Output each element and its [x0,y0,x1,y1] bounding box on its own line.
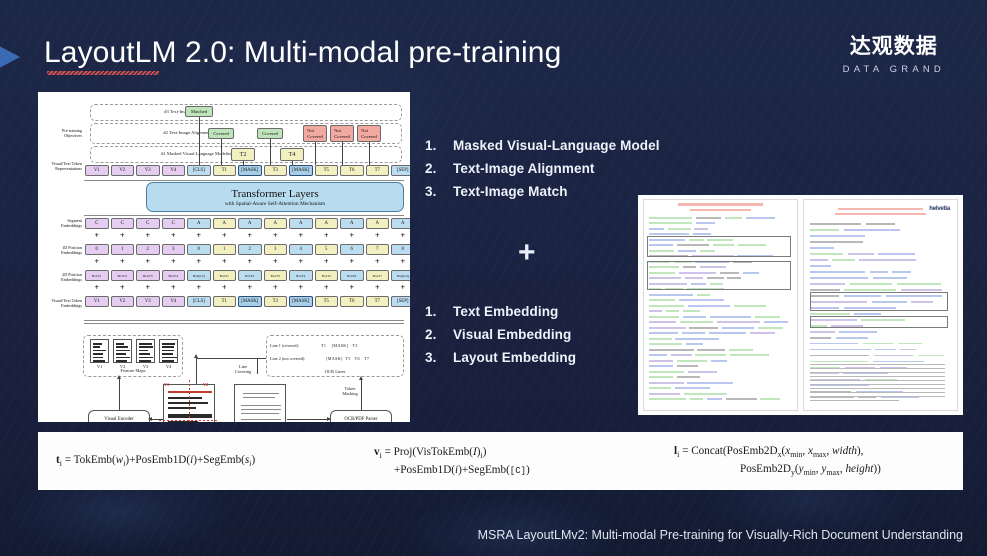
document-annotation-box [649,371,685,373]
figure-cell: T3 [264,296,288,307]
architecture-figure: Pre-trainingObjectives Visual/Text Token… [38,92,410,422]
figure-cell: C [111,218,135,229]
plus-operator: + [85,283,109,292]
plus-operator: + [366,257,390,266]
document-annotation-box [678,203,764,206]
document-annotation-box [844,229,901,231]
spellcheck-underline [47,71,159,75]
document-annotation-box [687,382,732,384]
plus-operator: + [187,231,211,240]
document-annotation-box [810,397,854,399]
chip-prediction-t4: T4 [280,148,304,161]
figure-cell: 3 [264,244,288,255]
figure-cell: [CLS] [187,165,211,176]
plus-operator: + [136,231,160,240]
figure-cell: Box[0,0] [187,270,211,281]
document-annotation-box [649,327,686,329]
formula-layout-embedding: li = Concat(PosEmb2Dx(xmin, xmax, width)… [668,443,963,478]
embeddings-item-3-num: 3. [425,346,453,369]
document-annotation-box [850,283,892,285]
figure-cell: A [391,218,410,229]
chip-covered-1: Covered [208,128,234,139]
chip-not-covered-2: NotCovered [330,125,354,142]
divider-rule-bottom [84,320,404,321]
figure-cell: V1 [85,165,109,176]
plus-operator: + [315,257,339,266]
document-annotation-box [844,289,896,291]
document-annotation-box [810,247,834,249]
document-annotation-box [649,360,674,362]
plus-operator: + [264,283,288,292]
document-annotation-box [734,305,766,307]
document-annotation-box [649,398,687,400]
document-annotation-box [707,398,722,400]
document-annotation-box [649,228,665,230]
plus-operator: + [187,283,211,292]
doc-corner-label-v2: V2 [203,383,208,388]
label-visual-text-token-embeddings: Visual/Text TokenEmbeddings [40,298,82,309]
plus-operator: + [315,231,339,240]
embeddings-list: 1. Text Embedding 2. Visual Embedding 3.… [425,300,576,369]
objectives-item-1: 1. Masked Visual-Language Model [425,134,660,157]
connector-cls-to-matched [199,117,200,165]
document-annotation-box [696,217,722,219]
document-annotation-box [671,354,692,356]
document-annotation-box [649,376,673,378]
document-annotation-box [686,343,703,345]
figure-cell: BoxT7 [366,270,390,281]
figure-cell: 3 [162,244,186,255]
connector-t7-notcovered [369,142,370,165]
document-annotation-box [810,277,868,279]
document-annotation-box [892,271,911,273]
figure-cell: 8 [391,244,410,255]
document-annotation-box [666,310,679,312]
figure-cell: T1 [213,296,237,307]
ocr-line1-label: Line 1 (covered): [270,344,318,349]
document-annotation-box [649,316,680,318]
document-annotation-box [874,355,913,357]
document-annotation-box [810,380,945,381]
document-annotation-box [810,355,869,357]
document-annotation-box [810,235,865,237]
chip-not-covered-3: NotCovered [357,125,381,142]
objectives-item-2: 2. Text-Image Alignment [425,157,660,180]
document-annotation-box [688,305,730,307]
figure-cell: T7 [366,296,390,307]
document-annotation-box [649,393,681,395]
figure-cell: 2 [238,244,262,255]
label-pretraining-objectives: Pre-trainingObjectives [40,128,82,139]
plus-operator: + [136,257,160,266]
ocr-lines-caption: OCR Lines [266,369,404,374]
document-annotation-box [722,327,754,329]
figure-cell: 0 [85,244,109,255]
document-annotation-box [810,289,839,291]
document-annotation-box [875,349,895,351]
document-annotation-box [696,222,714,224]
plus-operator: + [213,231,237,240]
document-annotation-box [898,343,922,345]
document-annotation-box [873,277,908,279]
document-annotation-box [668,228,690,230]
document-annotation-box [918,355,944,357]
document-annotation-box [649,343,682,345]
figure-cell: [SEP] [391,165,410,176]
plus-symbol: + [518,238,536,268]
figure-cell: A [289,218,313,229]
figure-cell: BoxV1 [85,270,109,281]
document-annotation-box [810,265,831,267]
figure-cell: T5 [315,165,339,176]
figure-cell: V3 [136,296,160,307]
ocr-line2-tokens: [MASK] T5 T6 T7 [326,357,404,362]
document-annotation-box [711,360,727,362]
document-annotation-box [675,338,719,340]
document-annotation-box [690,209,751,211]
document-annotation-box [854,313,881,315]
plus-operator: + [111,257,135,266]
document-annotation-box [810,361,868,363]
document-annotation-box [682,332,706,334]
document-annotation-box [810,253,843,255]
token-masking-label: TokenMasking [330,386,370,396]
embeddings-item-3-label: Layout Embedding [453,346,576,369]
document-page-plain [234,384,286,422]
document-annotation-box [677,376,701,378]
document-annotation-box [649,387,671,389]
label-visual-text-token-representations: Visual/Text TokenRepresentations [40,161,82,172]
doc-covered-crosshair-v [189,380,190,422]
plus-operator: + [85,257,109,266]
objectives-list: 1. Masked Visual-Language Model 2. Text-… [425,134,660,203]
figure-cell: 7 [366,244,390,255]
document-annotation-box [679,299,724,301]
figure-cell: V3 [136,165,160,176]
figure-cell: A [264,218,288,229]
slide-caption: MSRA LayoutLMv2: Multi-modal Pre-trainin… [478,528,963,542]
document-annotation-box [690,398,703,400]
document-annotation-box [725,217,742,219]
embeddings-item-2-num: 2. [425,323,453,346]
figure-cell: T1 [213,165,237,176]
logo-english-text: DATA GRAND [843,64,945,75]
figure-cell: A [238,218,262,229]
document-annotation-box [836,337,868,339]
line-covering-h [196,358,266,359]
figure-cell: [MASK] [238,296,262,307]
document-annotation-box [810,349,871,351]
document-annotation-box [810,372,945,373]
plus-operator: + [238,283,262,292]
figure-cell: [SEP] [391,296,410,307]
figure-cell: 6 [340,244,364,255]
plus-operator: + [136,283,160,292]
objectives-item-2-label: Text-Image Alignment [453,157,595,180]
document-annotation-box [649,365,673,367]
transformer-title: Transformer Layers [231,188,318,200]
document-annotation-box [810,384,945,385]
objectives-item-1-num: 1. [425,134,453,157]
document-annotation-box [870,271,888,273]
document-annotation-box [858,397,876,399]
arrow-parser-to-ocrlines-head [359,376,363,380]
figure-cell: BoxV4 [162,270,186,281]
figure-cell: T6 [340,165,364,176]
document-annotation-box [810,396,945,397]
document-annotation-box [750,332,776,334]
arrow-encoder-to-featmaps [119,379,120,410]
document-section-frame [647,236,791,257]
document-annotation-box [649,217,692,219]
divider-rule-top [84,180,404,181]
document-annotation-box [760,398,780,400]
plus-operator: + [391,231,410,240]
plus-operator: + [238,257,262,266]
embeddings-item-3: 3. Layout Embedding [425,346,576,369]
feature-map-thumb [113,339,132,363]
document-annotation-box [694,228,707,230]
plus-operator: + [340,283,364,292]
figure-cell: V2 [111,296,135,307]
connector-t6-notcovered [342,142,343,165]
document-annotation-box [810,337,831,339]
document-annotation-box [649,310,662,312]
figure-cell: T7 [366,165,390,176]
plus-operator: + [340,257,364,266]
plus-operator: + [187,257,211,266]
arrow-docplain-to-parser [287,419,330,420]
objectives-item-3: 3. Text-Image Match [425,180,660,203]
document-annotation-box [810,259,828,261]
objectives-item-1-label: Masked Visual-Language Model [453,134,660,157]
connector-t3-to-covered [270,139,271,165]
plus-operator: + [213,283,237,292]
document-annotation-box [810,343,858,345]
document-section-frame [810,316,948,329]
plus-operator: + [289,231,313,240]
plus-operator: + [315,283,339,292]
figure-cell: A [315,218,339,229]
arrow-doc-to-encoder-head [148,417,152,421]
document-annotation-box [810,385,868,387]
figure-cell: A [340,218,364,229]
plus-operator: + [264,231,288,240]
ocr-line1-tokens: T1 [MASK] T3 [321,344,399,349]
chip-prediction-t2: T2 [231,148,255,161]
figure-cell: C [162,218,186,229]
document-annotation-box [897,283,941,285]
figure-cell: 5 [315,244,339,255]
document-annotation-box [835,213,927,215]
figure-cell: 2 [136,244,160,255]
document-annotation-box [810,283,845,285]
objectives-item-2-num: 2. [425,157,453,180]
document-annotation-box [764,321,789,323]
page-title: LayoutLM 2.0: Multi-modal pre-training [44,36,561,70]
document-annotation-box [810,388,945,389]
document-annotation-box [729,349,753,351]
plus-operator: + [366,283,390,292]
document-annotation-box [649,321,676,323]
figure-cell: 1 [213,244,237,255]
arrow-encoder-to-featmaps-head [117,375,121,379]
document-annotation-box [901,289,943,291]
document-annotation-box [688,371,717,373]
document-annotation-box [810,392,945,393]
document-annotation-box [649,305,684,307]
document-annotation-box [697,349,725,351]
document-annotation-box [730,354,769,356]
plus-operator: + [391,257,410,266]
plus-operator: + [366,231,390,240]
doc-corner-label-v1: V1 [164,383,169,388]
document-annotation-box [649,294,693,296]
embeddings-item-2-label: Visual Embedding [453,323,571,346]
document-annotation-box [810,229,839,231]
document-sample-right: helvetia [803,199,958,411]
document-annotation-box [810,313,850,315]
document-annotation-box [680,321,713,323]
divider-rule-bottom2 [84,323,404,324]
document-annotation-box [649,222,693,224]
annotated-documents-panel: helvetia [638,195,963,415]
document-annotation-box [859,259,916,261]
embeddings-item-1-num: 1. [425,300,453,323]
document-annotation-box [866,223,895,225]
document-annotation-box [810,223,861,225]
document-annotation-box [838,208,924,210]
document-annotation-box [832,259,854,261]
transformer-layers-block: Transformer Layers with Spatial-Aware Se… [146,182,404,212]
embeddings-item-2: 2. Visual Embedding [425,323,576,346]
plus-operator: + [391,283,410,292]
document-annotation-box [810,400,899,401]
logo-chinese-text: 达观数据 [843,30,945,60]
document-annotation-box [649,349,694,351]
figure-cell: V4 [162,296,186,307]
feature-map-thumb [136,339,155,363]
figure-cell: T3 [264,165,288,176]
figure-cell: [MASK] [289,296,313,307]
figure-cell: BoxT1 [213,270,237,281]
figure-cell: T6 [340,296,364,307]
document-annotation-box [873,361,924,363]
visual-encoder-box: Visual Encoder [88,410,150,422]
feature-map-thumb [159,339,178,363]
embeddings-item-1-label: Text Embedding [453,300,558,323]
plus-operator: + [340,231,364,240]
document-annotation-box [695,354,726,356]
label-segment-embeddings: SegmentEmbeddings [40,218,82,229]
arrow-docplain-to-parser-head [327,417,331,421]
figure-cell: A [366,218,390,229]
formula-text-embedding: ti = TokEmb(wi)+PosEmb1D(i)+SegEmb(si) [38,452,368,470]
document-annotation-box [848,253,874,255]
document-annotation-box [755,316,780,318]
document-annotation-box [675,387,710,389]
left-arrow-decoration [0,40,20,74]
figure-cell: V4 [162,165,186,176]
objectives-item-3-label: Text-Image Match [453,180,568,203]
document-annotation-box [839,331,877,333]
document-annotation-box [810,368,945,369]
formula-strip: ti = TokEmb(wi)+PosEmb1D(i)+SegEmb(si) v… [38,432,963,490]
brand-logo: 达观数据 DATA GRAND [843,30,945,75]
transformer-subtitle: with Spatial-Aware Self-Attention Mechan… [225,201,325,207]
document-annotation-box [810,376,945,377]
figure-cell: BoxT6 [340,270,364,281]
document-annotation-box [649,354,667,356]
figure-cell: 0 [187,244,211,255]
document-annotation-box [709,332,746,334]
plus-operator: + [162,257,186,266]
objectives-item-3-num: 3. [425,180,453,203]
document-annotation-box [677,365,699,367]
document-annotation-box [649,338,672,340]
document-annotation-box [683,316,706,318]
figure-cell: T5 [315,296,339,307]
plus-operator: + [289,283,313,292]
plus-operator: + [213,257,237,266]
embeddings-item-1: 1. Text Embedding [425,300,576,323]
plus-operator: + [238,231,262,240]
document-sample-left [643,199,798,411]
document-annotation-box [726,398,756,400]
document-annotation-box [649,299,676,301]
document-annotation-box [843,373,888,375]
line-covering-arrow [194,354,198,358]
document-section-frame [810,292,948,311]
plus-operator: + [289,257,313,266]
connector-t1-to-covered [221,139,222,165]
document-annotation-box [810,331,835,333]
document-annotation-box [810,364,945,365]
document-annotation-box [683,310,700,312]
figure-cell: BoxV3 [136,270,160,281]
figure-cell: C [85,218,109,229]
ocr-line2-label: Line 2 (not covered): [270,357,325,362]
plus-operator: + [264,257,288,266]
figure-cell: BoxT5 [315,270,339,281]
figure-cell: BoxV2 [111,270,135,281]
document-annotation-box [649,332,678,334]
plus-operator: + [162,231,186,240]
figure-cell: A [187,218,211,229]
figure-cell: [CLS] [187,296,211,307]
ocr-pdf-parser-box: OCR/PDF Parser [330,410,392,422]
feature-map-thumb [90,339,109,363]
chip-covered-2: Covered [257,128,283,139]
document-section-frame [647,261,791,290]
figure-cell: BoxT3 [264,270,288,281]
figure-cell: BoxT4 [289,270,313,281]
feature-maps-caption: Feature Maps [83,368,183,373]
line-covering-v2 [257,358,258,374]
figure-cell: Box[0,0] [391,270,410,281]
figure-cell: C [136,218,160,229]
figure-cell: [MASK] [238,165,262,176]
document-annotation-box [863,343,893,345]
document-annotation-box [900,349,916,351]
document-annotation-box [810,271,865,273]
figure-cell: V1 [85,296,109,307]
helvetia-brand-label: helvetia [929,206,950,212]
document-annotation-box [758,327,783,329]
plus-operator: + [85,231,109,240]
document-annotation-box [810,373,839,375]
figure-cell: 1 [111,244,135,255]
